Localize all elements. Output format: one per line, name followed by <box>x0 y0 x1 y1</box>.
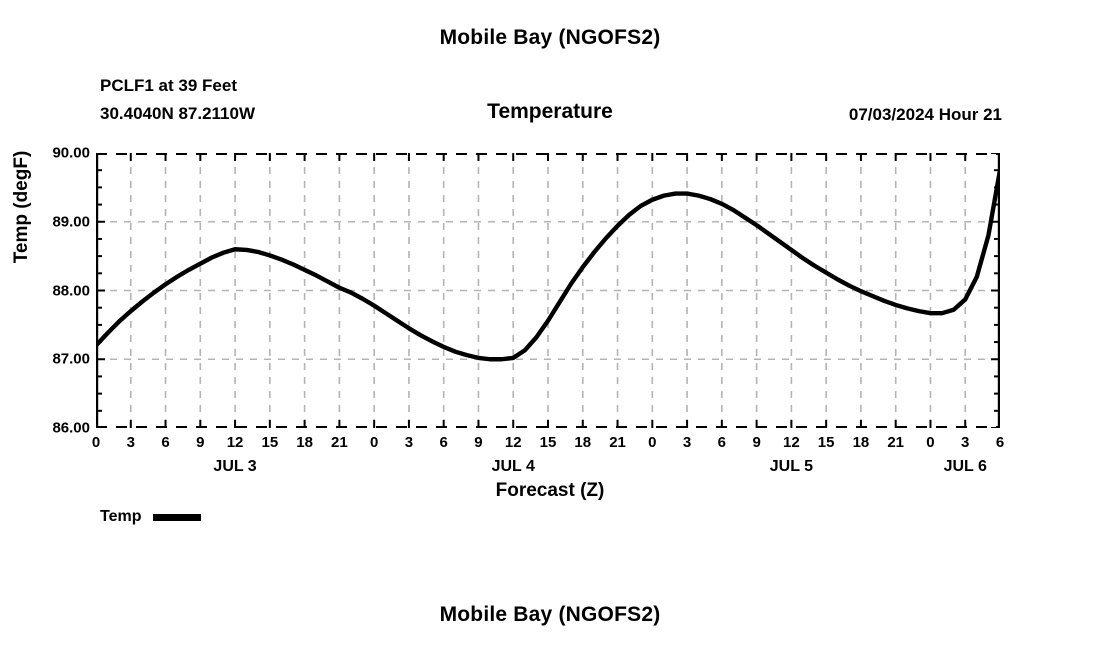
x-tick-label: 15 <box>818 434 835 451</box>
chart-page: Mobile Bay (NGOFS2) PCLF1 at 39 Feet 30.… <box>0 0 1100 650</box>
temperature-line-chart <box>96 153 1000 428</box>
model-run-time: 07/03/2024 Hour 21 <box>849 105 1002 125</box>
legend-item-label: Temp <box>100 508 141 526</box>
x-tick-label: 0 <box>370 434 378 451</box>
x-tick-label: 21 <box>609 434 626 451</box>
x-tick-label: 21 <box>887 434 904 451</box>
x-tick-label: 6 <box>718 434 726 451</box>
x-tick-label: 3 <box>683 434 691 451</box>
y-tick-label: 90.00 <box>4 145 90 162</box>
y-axis-tick-labels: 86.0087.0088.0089.0090.00 <box>0 0 90 650</box>
station-label: PCLF1 at 39 Feet <box>100 76 237 96</box>
day-label: JUL 3 <box>213 458 256 476</box>
x-axis-title: Forecast (Z) <box>0 480 1100 502</box>
y-tick-label: 87.00 <box>4 351 90 368</box>
x-tick-label: 0 <box>92 434 100 451</box>
page-title-top: Mobile Bay (NGOFS2) <box>0 26 1100 50</box>
x-tick-label: 6 <box>440 434 448 451</box>
x-tick-label: 0 <box>648 434 656 451</box>
x-tick-label: 6 <box>161 434 169 451</box>
x-tick-label: 9 <box>196 434 204 451</box>
x-tick-label: 18 <box>296 434 313 451</box>
page-title-bottom: Mobile Bay (NGOFS2) <box>0 603 1100 627</box>
day-label: JUL 5 <box>770 458 813 476</box>
plot-area <box>96 153 1000 428</box>
x-tick-label: 15 <box>540 434 557 451</box>
x-tick-label: 12 <box>227 434 244 451</box>
legend: Temp <box>100 508 201 526</box>
x-tick-label: 12 <box>783 434 800 451</box>
x-tick-label: 3 <box>405 434 413 451</box>
x-tick-label: 18 <box>853 434 870 451</box>
x-tick-label: 0 <box>926 434 934 451</box>
y-tick-label: 89.00 <box>4 213 90 230</box>
day-label: JUL 6 <box>944 458 987 476</box>
y-tick-label: 86.00 <box>4 420 90 437</box>
x-tick-label: 21 <box>331 434 348 451</box>
x-tick-label: 15 <box>262 434 279 451</box>
x-tick-label: 3 <box>127 434 135 451</box>
x-tick-label: 3 <box>961 434 969 451</box>
day-label: JUL 4 <box>492 458 535 476</box>
legend-line-swatch <box>153 514 201 521</box>
x-tick-label: 6 <box>996 434 1004 451</box>
y-tick-label: 88.00 <box>4 282 90 299</box>
x-tick-label: 9 <box>474 434 482 451</box>
x-tick-label: 12 <box>505 434 522 451</box>
x-tick-label: 18 <box>574 434 591 451</box>
x-tick-label: 9 <box>752 434 760 451</box>
